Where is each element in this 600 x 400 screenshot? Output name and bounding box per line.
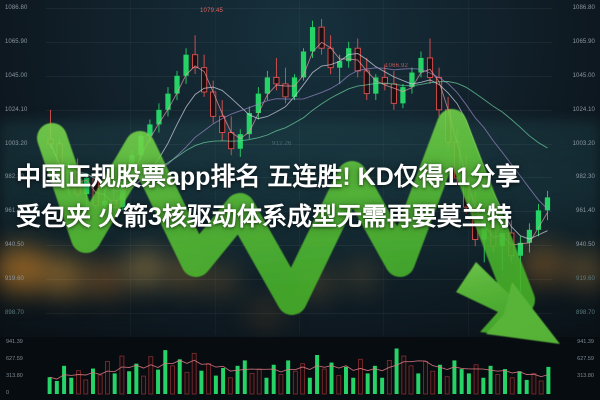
price-axis-label-right: 919.60 <box>576 276 595 282</box>
price-axis-label-left: 898.70 <box>5 310 24 316</box>
price-axis-label-left: 919.60 <box>5 276 24 282</box>
price-axis-label-right: 1045.00 <box>573 73 595 79</box>
price-axis-label-right: 1024.10 <box>573 107 595 113</box>
volume-axis-label-right: 941.39 <box>577 340 594 346</box>
price-axis-label-left: 1065.90 <box>5 39 27 45</box>
stock-chart-banner: 1086.801065.901045.001024.101003.20982.3… <box>0 0 600 400</box>
headline-line-2: 受包夹 火箭3核驱动体系成型无需再要莫兰特 <box>16 197 584 237</box>
price-axis-label-left: 940.50 <box>5 242 24 248</box>
price-axis-label-right: 1086.80 <box>573 5 595 11</box>
headline-line-1: 中国正规股票app排名 五连胜! KD仅得11分享 <box>16 157 584 197</box>
volume-axis-label-left: 627.59 <box>6 357 23 363</box>
volume-axis-label-right: 313.80 <box>577 374 594 380</box>
price-axis-label-left: 1086.80 <box>5 5 27 11</box>
annotation-low-marker: 912.26 <box>272 141 292 147</box>
price-axis-label-left: 1045.00 <box>5 73 27 79</box>
volume-axis-label-left: 0 <box>6 391 9 397</box>
price-axis-label-right: 1003.20 <box>573 141 595 147</box>
headline-overlay: 中国正规股票app排名 五连胜! KD仅得11分享 受包夹 火箭3核驱动体系成型… <box>0 157 600 237</box>
price-axis-label-right: 898.70 <box>576 310 595 316</box>
price-axis-label-right: 1065.90 <box>573 39 595 45</box>
volume-axis-label-left: 313.80 <box>6 374 23 380</box>
volume-bar-series <box>0 337 600 400</box>
annotation-secondary-marker: 1066.92 <box>385 63 408 69</box>
volume-axis-label-right: 627.59 <box>577 357 594 363</box>
volume-axis-label-left: 941.39 <box>6 340 23 346</box>
volume-chart-panel: 941.39627.59313.800 941.39627.59313.80 <box>0 337 600 400</box>
annotation-high-marker: 1079.45 <box>200 8 223 14</box>
price-axis-label-left: 1003.20 <box>5 141 27 147</box>
price-axis-label-right: 940.50 <box>576 242 595 248</box>
price-axis-label-left: 1024.10 <box>5 107 27 113</box>
